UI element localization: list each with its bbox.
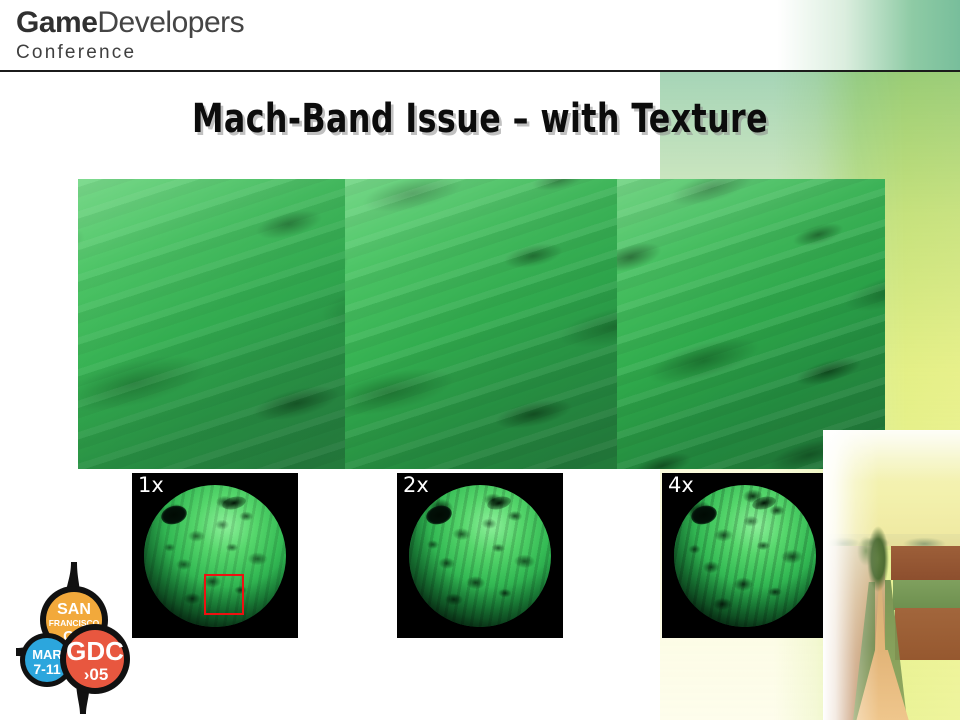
landscape-photo	[823, 430, 960, 720]
sphere-thumbnail-1x: 1x	[132, 473, 298, 638]
badge-event-line1: GDC	[66, 636, 124, 666]
photo-field-right-d	[899, 658, 960, 720]
badge-date-line1: MAR	[32, 647, 62, 662]
textured-sphere	[409, 485, 551, 627]
gdc-logo-developers: Developers	[97, 6, 244, 39]
thumbnail-label-2x: 2x	[403, 475, 429, 496]
gdc-logo-wordmark: GameDevelopers	[16, 8, 244, 38]
sphere-shading	[409, 485, 551, 627]
slide-header: GameDevelopers Conference	[0, 0, 960, 72]
header-divider	[0, 70, 960, 72]
thumbnail-label-1x: 1x	[138, 475, 164, 496]
texture-shading	[617, 179, 885, 469]
texture-shading	[345, 179, 617, 469]
badge-date-line2: 7-11	[33, 661, 60, 677]
texture-comparison-strip	[78, 179, 885, 469]
gdc-logo: GameDevelopers Conference	[16, 8, 244, 62]
sphere-thumbnail-2x: 2x	[397, 473, 563, 638]
slide-canvas: GameDevelopers Conference Mach-Band Issu…	[0, 0, 960, 720]
page-title: Mach-Band Issue – with Texture	[58, 96, 903, 142]
gdc-logo-conference: Conference	[16, 43, 244, 62]
textured-sphere	[674, 485, 816, 627]
photo-field-right-a	[891, 546, 960, 580]
gdc-logo-game: Game	[16, 6, 97, 39]
sphere-thumbnail-4x: 4x	[662, 473, 828, 638]
photo-field-right-b	[893, 580, 960, 610]
badge-svg: SAN FRANCISCO CA MAR 7-11 GDC ›05	[14, 556, 144, 716]
photo-field-right-c	[895, 608, 960, 660]
texture-panel-2x	[345, 179, 617, 469]
gdc-05-badge: SAN FRANCISCO CA MAR 7-11 GDC ›05	[14, 556, 144, 716]
badge-event-line2: ›05	[84, 665, 109, 684]
texture-panel-1x	[78, 179, 345, 469]
sphere-shading	[674, 485, 816, 627]
photo-fade-left	[823, 430, 879, 720]
roi-highlight-box	[204, 574, 244, 615]
badge-city-line1: SAN	[57, 601, 91, 618]
thumbnail-label-4x: 4x	[668, 475, 694, 496]
texture-shading	[78, 179, 345, 469]
texture-panel-4x	[617, 179, 885, 469]
